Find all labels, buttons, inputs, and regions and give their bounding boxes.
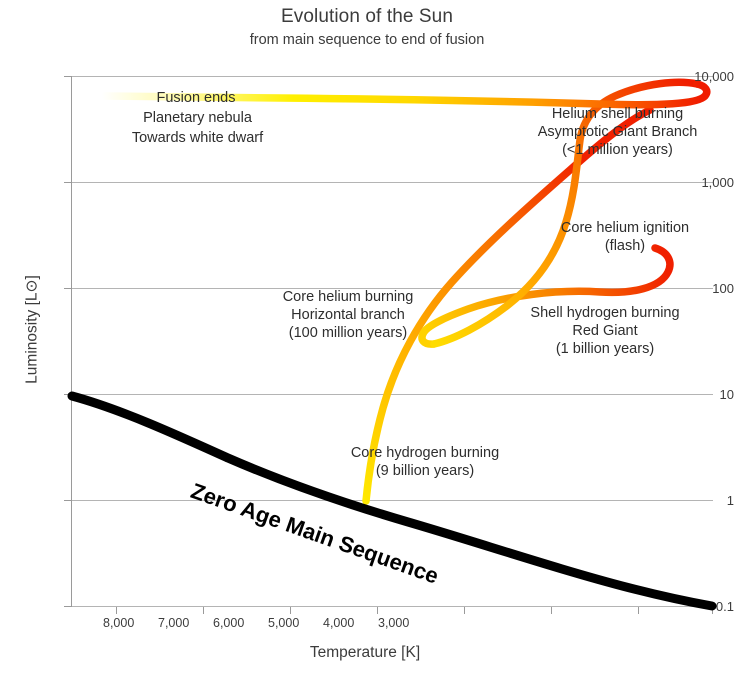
hr-diagram-chart: Evolution of the Sun from main sequence … — [0, 0, 734, 684]
x-axis-ticks — [117, 607, 713, 614]
xtick-6000: 6,000 — [213, 616, 244, 630]
x-axis-title: Temperature [K] — [200, 644, 530, 662]
annotation-horizontal-branch-line1: Core helium burning — [258, 289, 438, 306]
annotation-red-giant-line1: Shell hydrogen burning — [505, 305, 705, 322]
annotation-flash-line1: Core helium ignition — [535, 220, 715, 237]
annotation-core-hydrogen-line2: (9 billion years) — [330, 463, 520, 480]
ytick-0.1: 0.1 — [674, 600, 734, 613]
xtick-4000: 4,000 — [323, 616, 354, 630]
annotation-horizontal-branch-line3: (100 million years) — [258, 325, 438, 342]
annotation-red-giant-line3: (1 billion years) — [505, 341, 705, 358]
annotation-flash-line2: (flash) — [535, 238, 715, 255]
annotation-white-dwarf: Towards white dwarf — [110, 130, 285, 147]
y-axis-ticks — [64, 77, 71, 607]
annotation-core-hydrogen-line1: Core hydrogen burning — [330, 445, 520, 462]
y-axis-title: Luminosity [L⊙] — [23, 250, 42, 410]
annotation-horizontal-branch-line2: Horizontal branch — [258, 307, 438, 324]
annotation-fusion-ends: Fusion ends — [146, 90, 246, 107]
ytick-10: 10 — [674, 388, 734, 401]
ytick-10000: 10,000 — [674, 70, 734, 83]
annotation-red-giant-line2: Red Giant — [505, 323, 705, 340]
xtick-7000: 7,000 — [158, 616, 189, 630]
annotation-agb-line2: Asymptotic Giant Branch — [510, 124, 725, 141]
ytick-1000: 1,000 — [674, 176, 734, 189]
xtick-3000: 3,000 — [378, 616, 409, 630]
ytick-1: 1 — [674, 494, 734, 507]
ytick-100: 100 — [674, 282, 734, 295]
annotation-agb-line1: Helium shell burning — [510, 106, 725, 123]
xtick-8000: 8,000 — [103, 616, 134, 630]
xtick-5000: 5,000 — [268, 616, 299, 630]
annotation-agb-line3: (<1 million years) — [510, 142, 725, 159]
annotation-planetary-nebula: Planetary nebula — [110, 110, 285, 127]
